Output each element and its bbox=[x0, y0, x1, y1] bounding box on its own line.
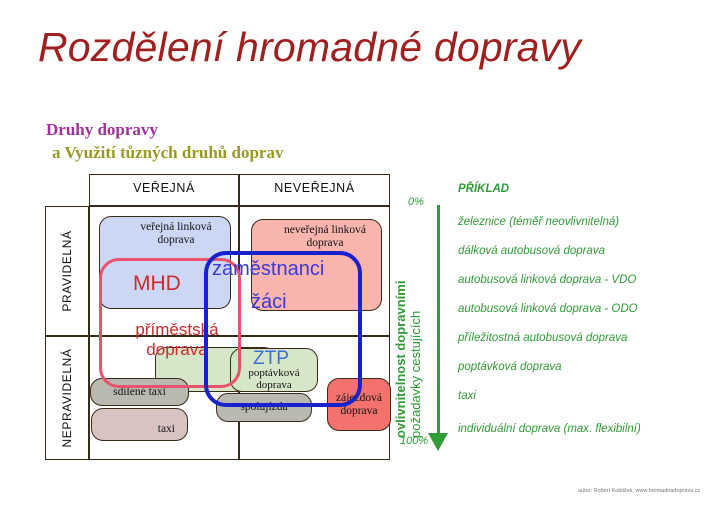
matrix-row-pravidelna: PRAVIDELNÁ bbox=[45, 206, 89, 336]
box-neverejna-linkova-doprava-label: neveřejná linková doprava bbox=[275, 224, 375, 250]
box-spolujizda[interactable]: spolujízda bbox=[216, 393, 312, 422]
matrix-row-pravidelna-label: PRAVIDELNÁ bbox=[60, 230, 74, 311]
matrix-header-verejna: VEŘEJNÁ bbox=[89, 174, 239, 206]
legend-item-1: dálková autobusová doprava bbox=[458, 245, 605, 257]
label-zamestnanci: zaměstnanci bbox=[212, 258, 324, 281]
matrix-header-verejna-label: VEŘEJNÁ bbox=[90, 181, 238, 195]
box-sdilene-taxi[interactable]: sdílené taxi bbox=[90, 378, 189, 406]
legend-header: PŘÍKLAD bbox=[458, 183, 509, 195]
legend-item-0: železnice (téměř neovlivnitelná) bbox=[458, 216, 619, 228]
matrix-header-neverejna: NEVEŘEJNÁ bbox=[239, 174, 390, 206]
legend-item-5: poptávková doprava bbox=[458, 361, 562, 373]
scale-axis-line bbox=[437, 205, 440, 437]
scale-axis-label-line-2: požadavky cestujících bbox=[408, 311, 423, 438]
scale-axis-label-line-1: ovlivnitelnost dopravními bbox=[393, 281, 408, 438]
matrix-row-nepravidelna-label: NEPRAVIDELNÁ bbox=[60, 348, 74, 447]
box-ztp-poptavkova-label: poptávková doprava bbox=[232, 367, 316, 392]
author-credit: autor: Robert Kobližek, www.hromadnadopr… bbox=[578, 488, 700, 494]
label-ztp: ZTP bbox=[253, 348, 289, 370]
legend-item-2: autobusová linková doprava - VDO bbox=[458, 274, 636, 286]
label-primestska-doprava: příměstská doprava bbox=[112, 320, 242, 360]
box-sdilene-taxi-label: sdílené taxi bbox=[113, 386, 166, 399]
influence-scale: 0% 100% ovlivnitelnost dopravními požada… bbox=[400, 183, 720, 455]
box-verejna-linkova-doprava-label: veřejná linková doprava bbox=[128, 221, 224, 247]
matrix-row-nepravidelna: NEPRAVIDELNÁ bbox=[45, 336, 89, 460]
subtitle-line-2: a Využití tůzných druhů doprav bbox=[52, 143, 283, 163]
scale-value-top: 0% bbox=[408, 196, 424, 208]
matrix-header-neverejna-label: NEVEŘEJNÁ bbox=[240, 181, 389, 195]
page-title: Rozdělení hromadné dopravy bbox=[38, 24, 581, 71]
legend-item-4: příležitostná autobusová doprava bbox=[458, 332, 627, 344]
scale-arrow-icon bbox=[428, 433, 448, 451]
legend-item-6: taxi bbox=[458, 390, 476, 402]
box-spolujizda-label: spolujízda bbox=[240, 401, 287, 414]
box-zajezdova-doprava[interactable]: zájezdová doprava bbox=[327, 378, 391, 431]
label-mhd: MHD bbox=[133, 272, 181, 296]
legend-item-7: individuální doprava (max. flexibilní) bbox=[458, 423, 641, 435]
box-zajezdova-doprava-label: zájezdová doprava bbox=[334, 392, 384, 418]
subtitle-line-1: Druhy dopravy bbox=[46, 120, 158, 140]
legend-item-3: autobusová linková doprava - ODO bbox=[458, 303, 638, 315]
slide-canvas: Rozdělení hromadné dopravy Druhy dopravy… bbox=[0, 0, 726, 512]
box-taxi[interactable]: taxi bbox=[91, 408, 188, 441]
label-zaci: žáci bbox=[251, 291, 287, 314]
box-taxi-label: taxi bbox=[158, 423, 181, 436]
